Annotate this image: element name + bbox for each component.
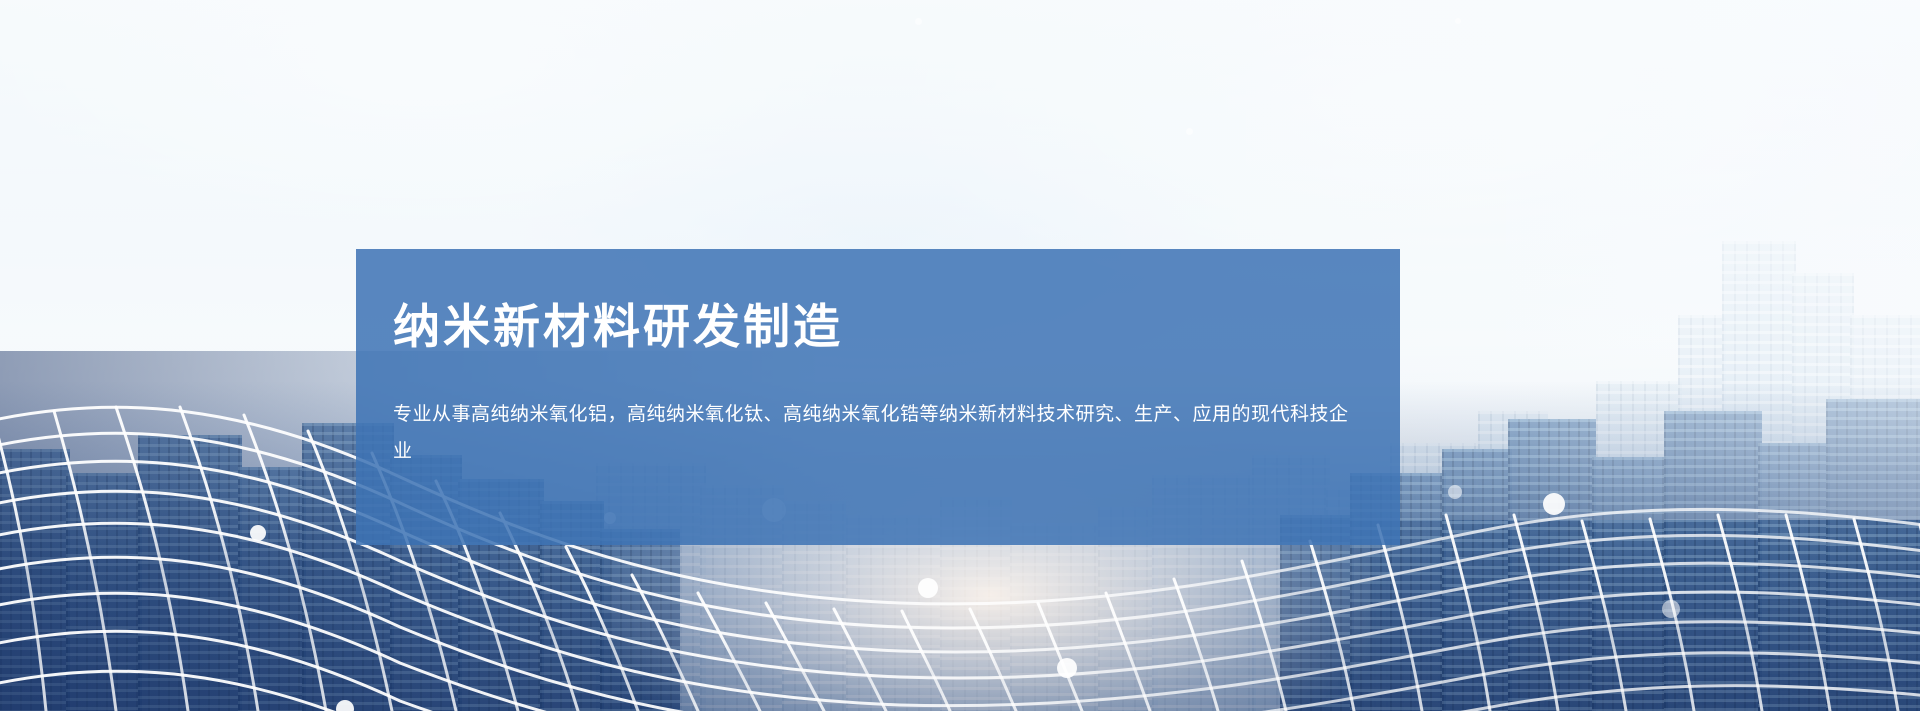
mesh-node-dot (250, 525, 266, 541)
mesh-node-dot (1543, 493, 1565, 515)
hero-banner: 纳米新材料研发制造 专业从事高纯纳米氧化铝，高纯纳米氧化钛、高纯纳米氧化锆等纳米… (0, 0, 1920, 711)
mesh-node-dot (1455, 18, 1461, 24)
mesh-node-dot (1057, 658, 1077, 678)
mesh-node-dot (915, 18, 922, 25)
page-subtitle: 专业从事高纯纳米氧化铝，高纯纳米氧化钛、高纯纳米氧化锆等纳米新材料技术研究、生产… (393, 396, 1360, 470)
mesh-node-dot (336, 700, 354, 711)
mesh-node-dot (1448, 485, 1462, 499)
page-title: 纳米新材料研发制造 (393, 301, 1360, 354)
mesh-node-dot (1186, 128, 1193, 135)
mesh-node-dot (1662, 600, 1680, 618)
hero-text-panel: 纳米新材料研发制造 专业从事高纯纳米氧化铝，高纯纳米氧化钛、高纯纳米氧化锆等纳米… (356, 249, 1400, 545)
mesh-node-dot (918, 578, 938, 598)
